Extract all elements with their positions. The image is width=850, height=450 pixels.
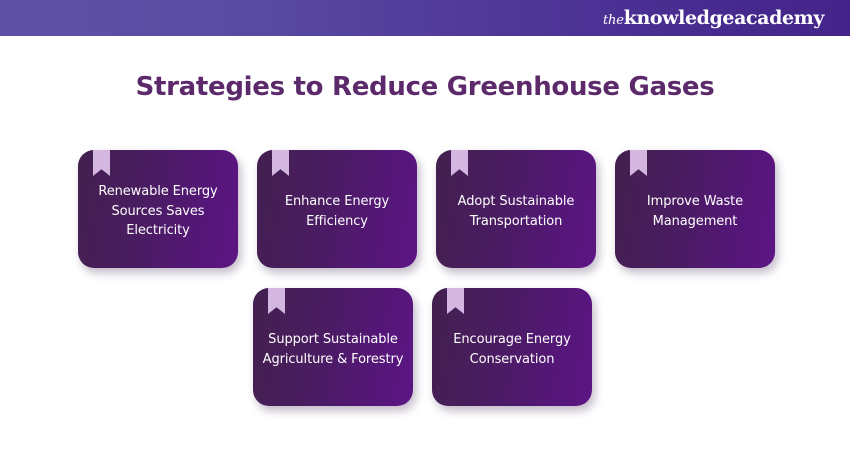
brand-logo-name: knowledgeacademy: [624, 9, 824, 28]
strategy-card-grid: Renewable Energy Sources Saves Electrici…: [78, 150, 778, 406]
strategy-card-label: Renewable Energy Sources Saves Electrici…: [87, 182, 229, 242]
strategy-card-energy-conservation[interactable]: Encourage Energy Conservation: [432, 288, 592, 406]
brand-logo-prefix: the: [603, 14, 624, 27]
card-row-2: Support Sustainable Agriculture & Forest…: [253, 288, 778, 406]
card-row-1: Renewable Energy Sources Saves Electrici…: [78, 150, 778, 268]
page-title: Strategies to Reduce Greenhouse Gases: [0, 72, 850, 102]
brand-logo[interactable]: theknowledgeacademy: [603, 9, 824, 28]
strategy-card-waste-management[interactable]: Improve Waste Management: [615, 150, 775, 268]
strategy-card-label: Improve Waste Management: [624, 192, 766, 232]
strategy-card-sustainable-agriculture[interactable]: Support Sustainable Agriculture & Forest…: [253, 288, 413, 406]
strategy-card-label: Encourage Energy Conservation: [441, 330, 583, 370]
bookmark-icon: [447, 288, 464, 314]
page-header: theknowledgeacademy: [0, 0, 850, 36]
strategy-card-label: Support Sustainable Agriculture & Forest…: [262, 330, 404, 370]
bookmark-icon: [272, 150, 289, 176]
bookmark-icon: [268, 288, 285, 314]
strategy-card-label: Adopt Sustainable Transportation: [445, 192, 587, 232]
strategy-card-sustainable-transportation[interactable]: Adopt Sustainable Transportation: [436, 150, 596, 268]
strategy-card-energy-efficiency[interactable]: Enhance Energy Efficiency: [257, 150, 417, 268]
bookmark-icon: [93, 150, 110, 176]
bookmark-icon: [451, 150, 468, 176]
strategy-card-renewable-energy[interactable]: Renewable Energy Sources Saves Electrici…: [78, 150, 238, 268]
strategy-card-label: Enhance Energy Efficiency: [266, 192, 408, 232]
bookmark-icon: [630, 150, 647, 176]
